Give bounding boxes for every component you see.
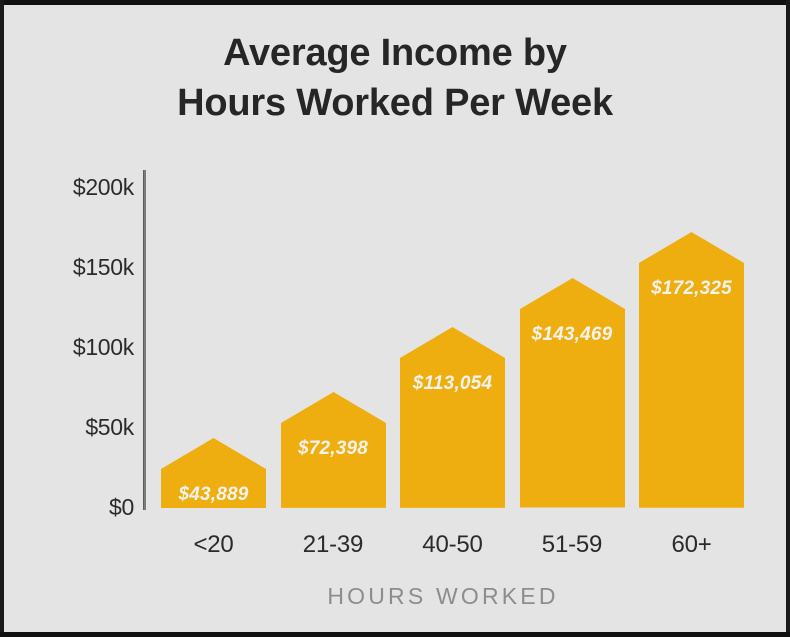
bar[interactable] [400, 327, 505, 508]
bar-value-label: $143,469 [508, 324, 637, 346]
x-axis-title: HOURS WORKED [143, 583, 743, 610]
bar-value-label: $43,889 [149, 484, 278, 506]
x-tick-label: 60+ [621, 532, 762, 558]
bar-value-label: $172,325 [627, 278, 756, 300]
plot-area: $0$50k$100k$150k$200k $43,889$72,398$113… [0, 0, 790, 637]
bottom-letterbox-band [0, 632, 790, 637]
bar-shape [400, 327, 505, 508]
chart-screenshot: Average Income by Hours Worked Per Week … [0, 0, 790, 637]
bar-value-label: $72,398 [269, 438, 398, 460]
bar-shape [639, 232, 744, 508]
bar[interactable] [639, 232, 744, 508]
bar-shape [520, 278, 625, 508]
bar-value-label: $113,054 [388, 373, 517, 395]
bar[interactable] [520, 278, 625, 508]
